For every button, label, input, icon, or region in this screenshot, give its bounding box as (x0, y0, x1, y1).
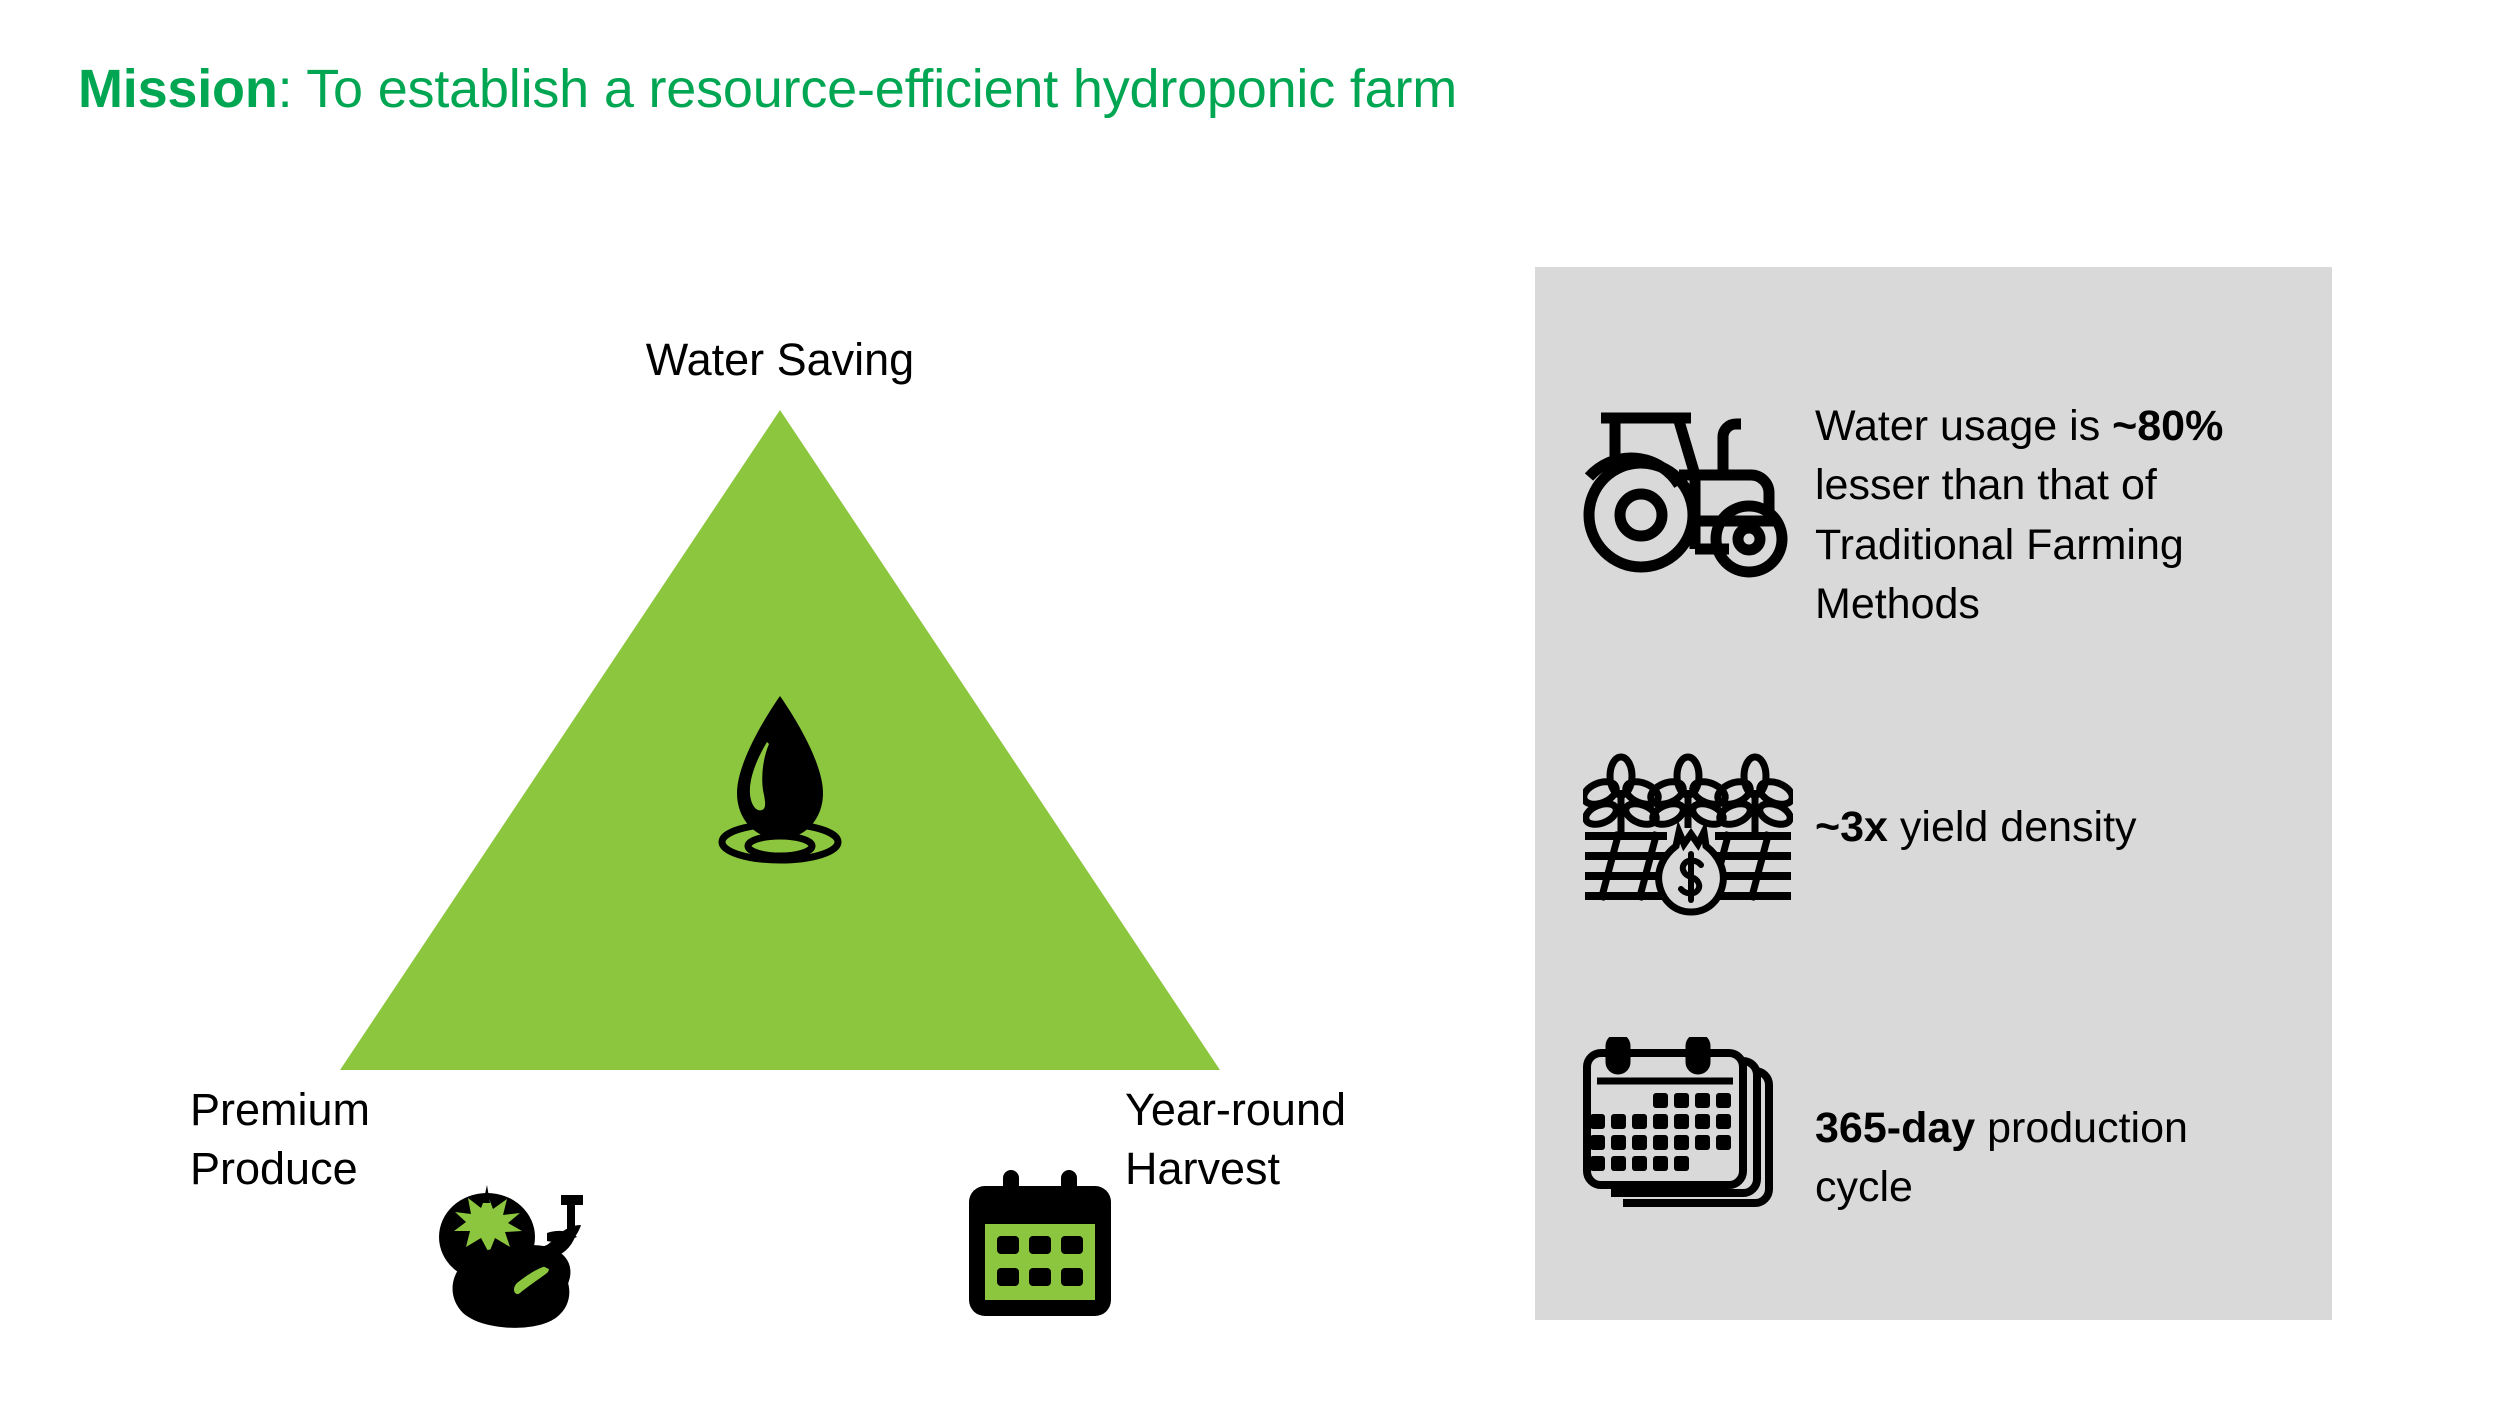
stat-text-bold: 365-day (1815, 1104, 1975, 1152)
calendar-icon (965, 1170, 1115, 1325)
vegetables-icon (425, 1175, 610, 1335)
stat-row: Water usage is ~80% lesser than that of … (1535, 389, 2332, 634)
stat-text-bold: ~3x (1815, 803, 1888, 851)
stat-text: Water usage is ~80% lesser than that of … (1793, 389, 2332, 634)
triangle-label-right-line1: Year-round (1125, 1080, 1346, 1139)
stat-text-post: lesser than that of Traditional Farming … (1815, 461, 2184, 628)
tractor-icon (1583, 389, 1793, 579)
stat-row: ~3x yield density (1535, 740, 2332, 930)
stat-text: ~3x yield density (1793, 740, 2332, 857)
stat-text: 365-day production cycle (1793, 1037, 2332, 1218)
crops-money-icon (1583, 740, 1793, 930)
stat-text-pre: Water usage is (1815, 402, 2112, 450)
water-drop-icon (705, 690, 855, 870)
triangle-label-left-line1: Premium (190, 1080, 370, 1139)
triangle-label-right-line2: Harvest (1125, 1139, 1346, 1198)
triangle-label-premium-produce: Premium Produce (190, 1080, 370, 1199)
page-title-bold: Mission (78, 59, 278, 119)
page-title-rest: : To establish a resource-efficient hydr… (278, 59, 1457, 119)
triangle-label-water-saving: Water Saving (646, 330, 914, 389)
triangle-label-year-round-harvest: Year-round Harvest (1125, 1080, 1346, 1199)
page-title: Mission: To establish a resource-efficie… (78, 58, 1457, 120)
stat-row: 365-day production cycle (1535, 1037, 2332, 1227)
stats-panel: Water usage is ~80% lesser than that of … (1535, 267, 2332, 1320)
triangle-diagram: Water Saving Premium Produce Year-round … (140, 310, 1440, 1240)
stat-text-bold: ~80% (2112, 402, 2223, 450)
stat-text-post: yield density (1888, 803, 2137, 851)
calendar-stack-icon (1583, 1037, 1793, 1227)
triangle-label-top-text: Water Saving (646, 334, 914, 385)
triangle-label-left-line2: Produce (190, 1139, 370, 1198)
